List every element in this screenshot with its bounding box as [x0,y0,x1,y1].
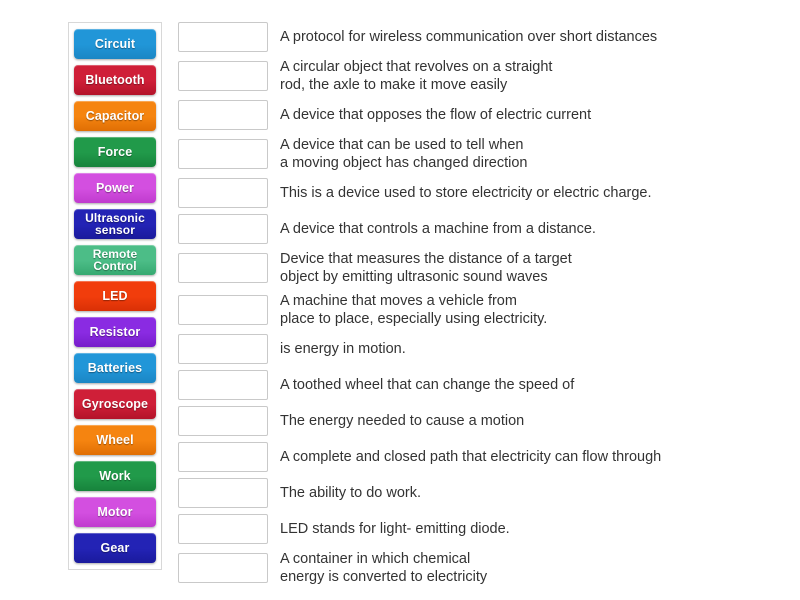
matching-row: The ability to do work. [178,478,778,508]
answer-drop-zone[interactable] [178,22,268,52]
answer-drop-zone[interactable] [178,478,268,508]
definition-text: Device that measures the distance of a t… [280,250,572,286]
definition-text: A device that can be used to tell when a… [280,136,527,172]
definition-text: A device that controls a machine from a … [280,220,596,238]
answer-drop-zone[interactable] [178,295,268,325]
matching-activity: CircuitBluetoothCapacitorForcePowerUltra… [0,0,800,600]
matching-row: A circular object that revolves on a str… [178,58,778,94]
matching-row: This is a device used to store electrici… [178,178,778,208]
answer-drop-zone[interactable] [178,253,268,283]
definition-text: A container in which chemical energy is … [280,550,487,586]
definition-text: The ability to do work. [280,484,421,502]
draggable-tile[interactable]: Circuit [74,29,156,59]
draggable-tile[interactable]: Resistor [74,317,156,347]
draggable-tile[interactable]: Remote Control [74,245,156,275]
answer-drop-zone[interactable] [178,61,268,91]
answer-drop-zone[interactable] [178,334,268,364]
answer-drop-zone[interactable] [178,553,268,583]
matching-row: A protocol for wireless communication ov… [178,22,778,52]
draggable-tile[interactable]: Work [74,461,156,491]
definition-text: LED stands for light- emitting diode. [280,520,510,538]
answer-drop-zone[interactable] [178,514,268,544]
draggable-tile[interactable]: Motor [74,497,156,527]
matching-row: is energy in motion. [178,334,778,364]
matching-row: Device that measures the distance of a t… [178,250,778,286]
draggable-tile[interactable]: Gyroscope [74,389,156,419]
answer-drop-zone[interactable] [178,214,268,244]
definition-text: This is a device used to store electrici… [280,184,652,202]
definition-text: A protocol for wireless communication ov… [280,28,657,46]
matching-row: LED stands for light- emitting diode. [178,514,778,544]
answer-drop-zone[interactable] [178,100,268,130]
matching-rows-list: A protocol for wireless communication ov… [178,22,778,592]
draggable-tile[interactable]: LED [74,281,156,311]
matching-row: A device that opposes the flow of electr… [178,100,778,130]
definition-text: The energy needed to cause a motion [280,412,524,430]
draggable-tile-panel: CircuitBluetoothCapacitorForcePowerUltra… [68,22,162,570]
draggable-tile[interactable]: Gear [74,533,156,563]
draggable-tile[interactable]: Batteries [74,353,156,383]
definition-text: A device that opposes the flow of electr… [280,106,591,124]
answer-drop-zone[interactable] [178,442,268,472]
draggable-tile[interactable]: Power [74,173,156,203]
answer-drop-zone[interactable] [178,406,268,436]
answer-drop-zone[interactable] [178,139,268,169]
draggable-tile[interactable]: Capacitor [74,101,156,131]
matching-row: A container in which chemical energy is … [178,550,778,586]
matching-row: A device that can be used to tell when a… [178,136,778,172]
matching-row: The energy needed to cause a motion [178,406,778,436]
definition-text: A complete and closed path that electric… [280,448,661,466]
definition-text: A circular object that revolves on a str… [280,58,552,94]
matching-row: A machine that moves a vehicle from plac… [178,292,778,328]
matching-row: A complete and closed path that electric… [178,442,778,472]
draggable-tile[interactable]: Ultrasonic sensor [74,209,156,239]
answer-drop-zone[interactable] [178,178,268,208]
matching-row: A device that controls a machine from a … [178,214,778,244]
definition-text: A toothed wheel that can change the spee… [280,376,574,394]
draggable-tile[interactable]: Force [74,137,156,167]
definition-text: A machine that moves a vehicle from plac… [280,292,547,328]
draggable-tile[interactable]: Bluetooth [74,65,156,95]
draggable-tile[interactable]: Wheel [74,425,156,455]
definition-text: is energy in motion. [280,340,406,358]
answer-drop-zone[interactable] [178,370,268,400]
matching-row: A toothed wheel that can change the spee… [178,370,778,400]
